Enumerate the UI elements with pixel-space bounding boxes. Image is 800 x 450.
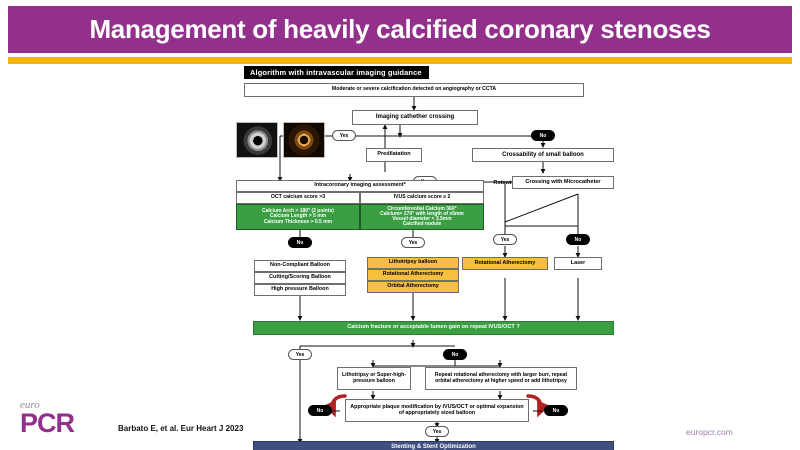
node-rotational-atherectomy-right: Rotational Atherectomy	[462, 257, 548, 270]
node-laser: Laser	[554, 257, 602, 270]
node-cutting-scoring-balloon: Cutting/Scoring Balloon	[254, 272, 346, 284]
decision-yes-plaque-modification: Yes	[425, 426, 449, 437]
decision-no-imaging-crossing: No	[531, 130, 555, 141]
algorithm-header-badge: Algorithm with intravascular imaging gui…	[244, 66, 429, 79]
node-predilatation: Predilatation	[366, 148, 422, 162]
ivus-image-thumbnail	[236, 122, 278, 158]
decision-yes-imaging-crossing: Yes	[332, 130, 356, 141]
node-imaging-catheter-crossing: Imaging cathether crossing	[352, 110, 478, 125]
algorithm-diagram: Algorithm with intravascular imaging gui…	[0, 64, 800, 450]
page-title: Management of heavily calcified coronary…	[89, 14, 710, 45]
oct-image-thumbnail	[283, 122, 325, 158]
node-lithotripsy-or-super-hp-balloon: Lithotripsy or Super-high-pressure ballo…	[337, 367, 411, 390]
slide-title-bar: Management of heavily calcified coronary…	[8, 6, 792, 53]
node-start-calcification: Moderate or severe calcification detecte…	[244, 83, 584, 97]
node-rotational-atherectomy: Rotational Atherectomy	[367, 269, 459, 281]
node-assessment-title: Intracoronary imaging assessment*	[236, 180, 484, 192]
node-orbital-atherectomy: Orbital Atherectomy	[367, 281, 459, 293]
accent-divider	[8, 57, 792, 64]
node-non-compliant-balloon: Non-Compliant Balloon	[254, 260, 346, 272]
node-crossing-microcatheter: Crossing with Microcatheter	[512, 176, 614, 189]
decision-no-loop-right: No	[544, 405, 568, 416]
node-plaque-modification: Appropriate plaque modification by IVUS/…	[345, 399, 529, 422]
decision-yes-assessment: Yes	[401, 237, 425, 248]
node-repeat-atherectomy: Repeat rotational atherectomy with large…	[425, 367, 577, 390]
decision-yes-microcatheter: Yes	[493, 234, 517, 245]
node-oct-calcium-score: OCT calcium score >3	[236, 192, 360, 204]
node-ivus-criteria: Circumferential Calcium 360° Calcium> 27…	[360, 204, 484, 230]
node-lithotripsy-balloon: Lithotripsy balloon	[367, 257, 459, 269]
node-stenting-optimization: Stenting & Stent Optimization	[253, 441, 614, 450]
decision-no-loop-left: No	[308, 405, 332, 416]
decision-yes-calcium-fracture: Yes	[288, 349, 312, 360]
node-high-pressure-balloon: High pressure Balloon	[254, 284, 346, 296]
node-crossability-small-balloon: Crossability of small balloon	[472, 148, 614, 162]
node-ivus-calcium-score: IVUS calcium score ≥ 2	[360, 192, 484, 204]
decision-no-calcium-fracture: No	[443, 349, 467, 360]
decision-no-microcatheter: No	[566, 234, 590, 245]
node-oct-criteria: Calcium Arch > 180° (2 points) Calcium L…	[236, 204, 360, 230]
decision-no-assessment: No	[288, 237, 312, 248]
node-calcium-fracture-check: Calcium fracture or acceptable lumen gai…	[253, 321, 614, 335]
